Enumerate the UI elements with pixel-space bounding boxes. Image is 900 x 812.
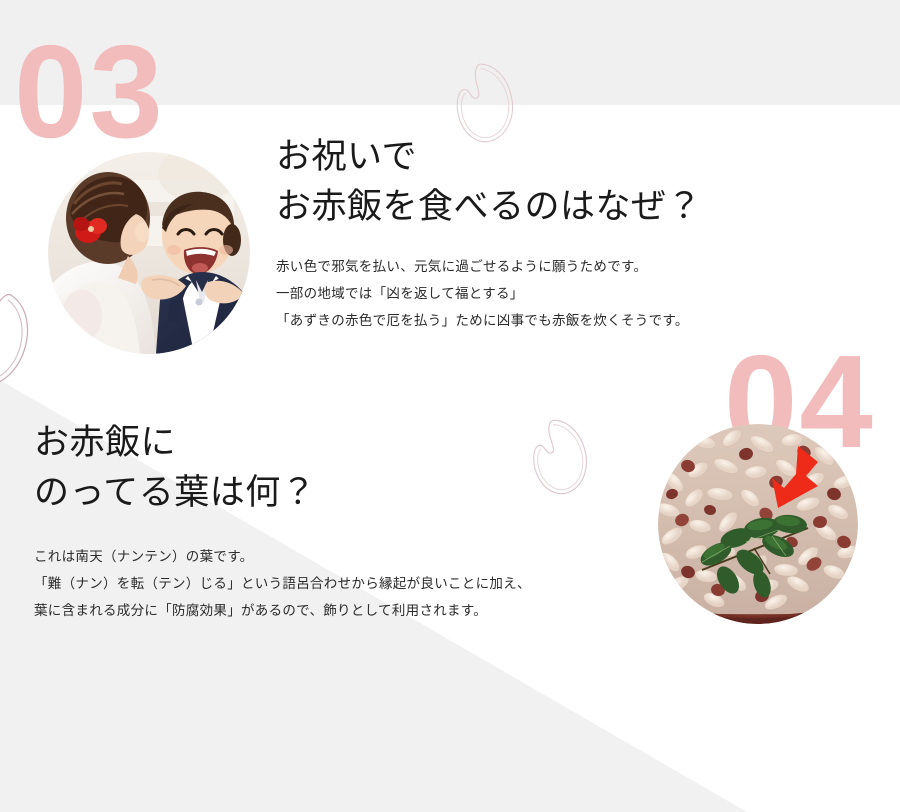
section-04-headline: お赤飯に のってる葉は何？	[34, 418, 634, 517]
photo-celebration-family	[48, 152, 250, 354]
azuki-bean-icon	[0, 280, 42, 399]
section-04-body: これは南天（ナンテン）の葉です。 「難（ナン）を転（テン）じる」という語呂合わせ…	[34, 543, 634, 624]
section-03-body: 赤い色で邪気を払い、元気に過ごせるように願うためです。 一部の地域では「凶を返し…	[276, 253, 876, 334]
section-03-headline: お祝いで お赤飯を食べるのはなぜ？	[276, 132, 876, 231]
infographic-page: 03 04	[0, 0, 900, 812]
section-04-content: お赤飯に のってる葉は何？ これは南天（ナンテン）の葉です。 「難（ナン）を転（…	[34, 418, 634, 624]
photo-sekihan-with-nanten	[658, 424, 858, 624]
section-number-03: 03	[14, 26, 165, 158]
section-03-content: お祝いで お赤飯を食べるのはなぜ？ 赤い色で邪気を払い、元気に過ごせるように願う…	[276, 132, 876, 334]
